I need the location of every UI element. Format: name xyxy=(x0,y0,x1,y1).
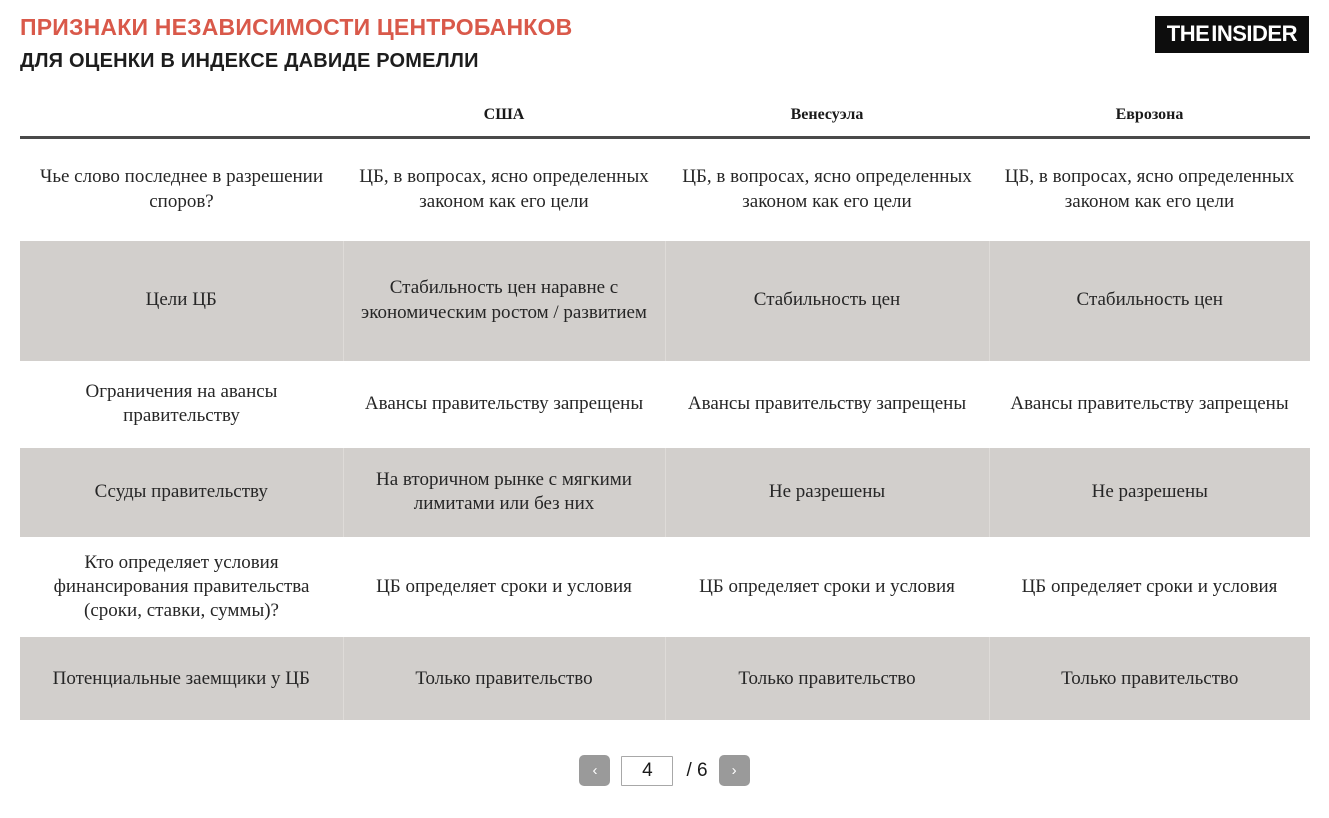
page-title: ПРИЗНАКИ НЕЗАВИСИМОСТИ ЦЕНТРОБАНКОВ xyxy=(20,14,1309,40)
cell-usa: На вторичном рынке с мягкими лимитами ил… xyxy=(343,448,665,537)
page-total-label: / 6 xyxy=(686,760,707,782)
column-header-eurozone: Еврозона xyxy=(989,100,1310,138)
next-page-button[interactable]: › xyxy=(719,755,750,786)
cell-eurozone: Авансы правительству запрещены xyxy=(989,361,1310,448)
logo-word-the: THE xyxy=(1167,21,1210,46)
cell-criterion: Чье слово последнее в разрешении споров? xyxy=(20,138,343,241)
cell-eurozone: Стабильность цен xyxy=(989,241,1310,361)
pagination: ‹ / 6 › xyxy=(0,755,1329,786)
cell-venezuela: ЦБ определяет сроки и условия xyxy=(665,537,989,638)
cell-venezuela: Только правительство xyxy=(665,637,989,720)
cell-criterion: Кто определяет условия финансирования пр… xyxy=(20,537,343,638)
table-body: Чье слово последнее в разрешении споров?… xyxy=(20,138,1310,721)
column-header-usa: США xyxy=(343,100,665,138)
page-number-input[interactable] xyxy=(621,756,673,786)
cell-eurozone: Только правительство xyxy=(989,637,1310,720)
table-header-row: США Венесуэла Еврозона xyxy=(20,100,1310,138)
cell-usa: ЦБ определяет сроки и условия xyxy=(343,537,665,638)
table-row: Чье слово последнее в разрешении споров?… xyxy=(20,138,1310,241)
cell-venezuela: ЦБ, в вопросах, ясно определенных законо… xyxy=(665,138,989,241)
comparison-table: США Венесуэла Еврозона Чье слово последн… xyxy=(20,100,1310,720)
cell-eurozone: ЦБ, в вопросах, ясно определенных законо… xyxy=(989,138,1310,241)
cell-usa: Стабильность цен наравне с экономическим… xyxy=(343,241,665,361)
cell-criterion: Потенциальные заемщики у ЦБ xyxy=(20,637,343,720)
logo-word-insider: INSIDER xyxy=(1211,21,1297,46)
cell-venezuela: Не разрешены xyxy=(665,448,989,537)
cell-venezuela: Стабильность цен xyxy=(665,241,989,361)
page-subtitle: ДЛЯ ОЦЕНКИ В ИНДЕКСЕ ДАВИДЕ РОМЕЛЛИ xyxy=(20,50,1309,73)
table-row: Кто определяет условия финансирования пр… xyxy=(20,537,1310,638)
page-header: ПРИЗНАКИ НЕЗАВИСИМОСТИ ЦЕНТРОБАНКОВ ДЛЯ … xyxy=(0,0,1329,86)
prev-page-button[interactable]: ‹ xyxy=(579,755,610,786)
table-head: США Венесуэла Еврозона xyxy=(20,100,1310,138)
cell-usa: Только правительство xyxy=(343,637,665,720)
cell-venezuela: Авансы правительству запрещены xyxy=(665,361,989,448)
column-header-venezuela: Венесуэла xyxy=(665,100,989,138)
cell-usa: Авансы правительству запрещены xyxy=(343,361,665,448)
comparison-table-container: США Венесуэла Еврозона Чье слово последн… xyxy=(20,100,1310,720)
cell-criterion: Цели ЦБ xyxy=(20,241,343,361)
cell-eurozone: Не разрешены xyxy=(989,448,1310,537)
table-row: Ограничения на авансы правительству Аван… xyxy=(20,361,1310,448)
cell-criterion: Ограничения на авансы правительству xyxy=(20,361,343,448)
table-row: Цели ЦБ Стабильность цен наравне с эконо… xyxy=(20,241,1310,361)
cell-usa: ЦБ, в вопросах, ясно определенных законо… xyxy=(343,138,665,241)
table-row: Ссуды правительству На вторичном рынке с… xyxy=(20,448,1310,537)
cell-criterion: Ссуды правительству xyxy=(20,448,343,537)
the-insider-logo: THEINSIDER xyxy=(1155,16,1309,53)
table-row: Потенциальные заемщики у ЦБ Только прави… xyxy=(20,637,1310,720)
column-header-criterion xyxy=(20,100,343,138)
cell-eurozone: ЦБ определяет сроки и условия xyxy=(989,537,1310,638)
